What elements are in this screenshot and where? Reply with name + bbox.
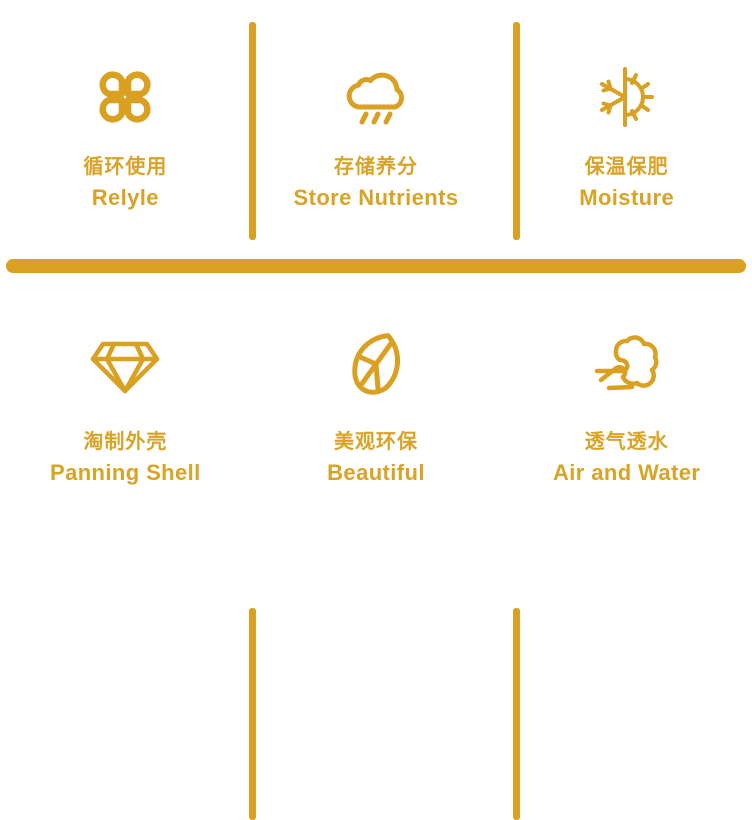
feature-label-en: Beautiful [327,459,425,487]
feature-label-group: 透气透水 Air and Water [553,429,700,487]
clover-recycle-icon [82,58,168,136]
feature-label-en: Store Nutrients [294,184,459,212]
leaf-icon [333,325,419,403]
feature-label-en: Air and Water [553,459,700,487]
feature-cell-beautiful: 美观环保 Beautiful [251,290,502,542]
column-divider-bottom-right [513,608,520,820]
wind-cloud-icon [584,325,670,403]
feature-label-cn: 存储养分 [294,154,459,180]
feature-label-group: 循环使用 Relyle [83,154,167,212]
feature-grid-panel: 循环使用 Relyle 存储养分 Store Nutrients [0,0,752,542]
feature-label-group: 美观环保 Beautiful [327,429,425,487]
sun-snowflake-icon [584,58,670,136]
feature-label-cn: 美观环保 [327,429,425,455]
feature-cell-moisture: 保温保肥 Moisture [501,0,752,258]
column-divider-bottom-left [249,608,256,820]
rain-cloud-icon [333,58,419,136]
feature-cell-store-nutrients: 存储养分 Store Nutrients [251,0,502,258]
feature-label-cn: 透气透水 [553,429,700,455]
feature-label-cn: 保温保肥 [579,154,674,180]
feature-cell-air-and-water: 透气透水 Air and Water [501,290,752,542]
feature-label-en: Panning Shell [50,459,201,487]
feature-label-cn: 淘制外壳 [50,429,201,455]
feature-label-group: 淘制外壳 Panning Shell [50,429,201,487]
column-divider-top-left [249,22,256,240]
feature-row-bottom: 淘制外壳 Panning Shell 美观环保 Beautiful [0,290,752,542]
feature-cell-panning-shell: 淘制外壳 Panning Shell [0,290,251,542]
feature-label-group: 保温保肥 Moisture [579,154,674,212]
column-divider-top-right [513,22,520,240]
feature-row-top: 循环使用 Relyle 存储养分 Store Nutrients [0,0,752,258]
feature-label-cn: 循环使用 [83,154,167,180]
feature-label-en: Moisture [579,184,674,212]
diamond-gem-icon [82,325,168,403]
section-divider [6,259,746,273]
feature-label-en: Relyle [83,184,167,212]
feature-label-group: 存储养分 Store Nutrients [294,154,459,212]
feature-cell-relyle: 循环使用 Relyle [0,0,251,258]
